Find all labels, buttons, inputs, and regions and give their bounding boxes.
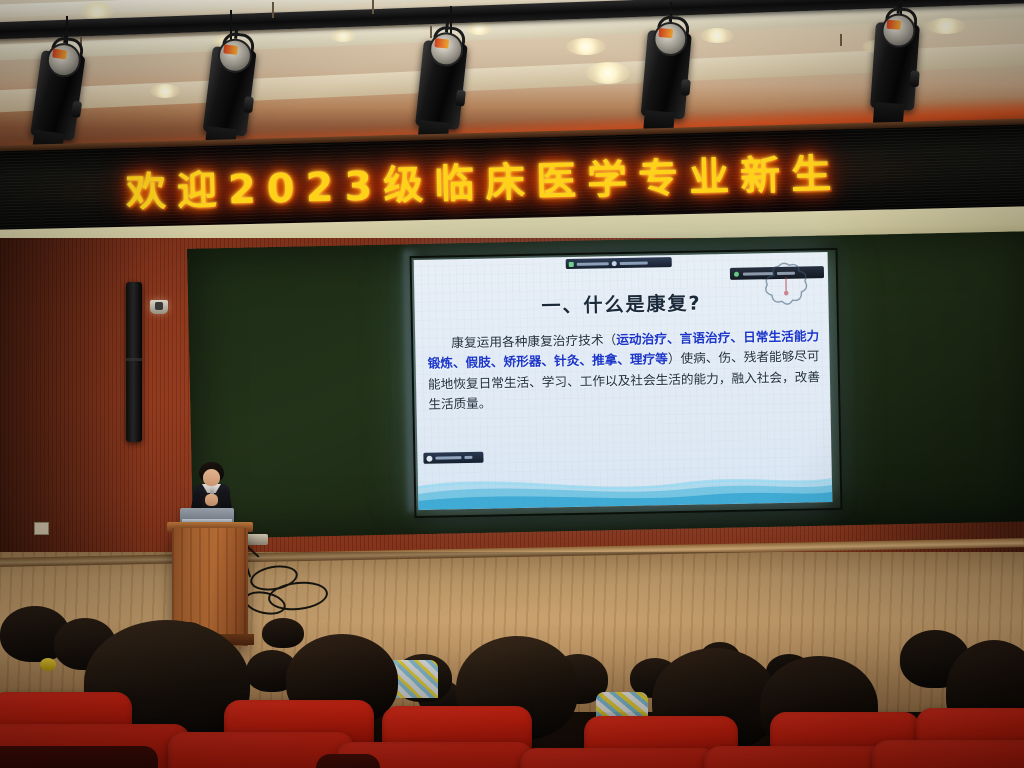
- wall-speaker-seam: [126, 358, 142, 361]
- hair-scrunchie: [40, 658, 56, 671]
- lantern-gel-frame: [658, 28, 673, 38]
- ceiling-drop-rod: [372, 0, 374, 14]
- wall-speaker-column: [126, 282, 142, 442]
- lantern-gel-frame: [52, 49, 67, 60]
- recessed-downlight: [586, 62, 630, 84]
- recessed-downlight: [80, 2, 114, 20]
- auditorium-photo-scene: 欢迎2023级临床医学专业新生 一、什么是康复?: [0, 0, 1024, 768]
- recessed-downlight: [566, 38, 606, 55]
- projection-screen-frame: [410, 248, 843, 518]
- auditorium-seat[interactable]: [704, 746, 894, 768]
- ceiling-drop-rod: [840, 34, 842, 46]
- auditorium-seat[interactable]: [872, 740, 1024, 768]
- auditorium-seat-shadow: [0, 746, 158, 768]
- recessed-downlight: [700, 28, 734, 43]
- lantern-gel-frame: [223, 44, 238, 55]
- audience-member: [262, 618, 304, 648]
- lantern-knob: [455, 90, 466, 107]
- wall-light-inner: [155, 302, 163, 310]
- lantern-knob: [71, 101, 82, 118]
- recessed-downlight: [466, 22, 492, 35]
- floor-outlet-box: [246, 534, 268, 545]
- lantern-knob: [910, 71, 920, 88]
- ceiling-drop-rod: [430, 26, 432, 38]
- audience-area: [0, 596, 1024, 768]
- lantern-gel-frame: [434, 38, 449, 48]
- recessed-downlight: [926, 18, 966, 34]
- recessed-downlight: [330, 29, 356, 42]
- wall-outlet-plate: [34, 522, 49, 535]
- presenter-face: [203, 469, 220, 486]
- presenter-hands: [205, 494, 218, 506]
- lantern-gel-frame: [887, 20, 902, 30]
- ceiling-drop-rod: [272, 2, 274, 18]
- auditorium-seat[interactable]: [520, 748, 718, 768]
- auditorium-seat-shadow: [316, 754, 380, 768]
- lantern-knob: [243, 96, 254, 113]
- lantern-knob: [680, 79, 690, 96]
- recessed-downlight: [150, 84, 180, 98]
